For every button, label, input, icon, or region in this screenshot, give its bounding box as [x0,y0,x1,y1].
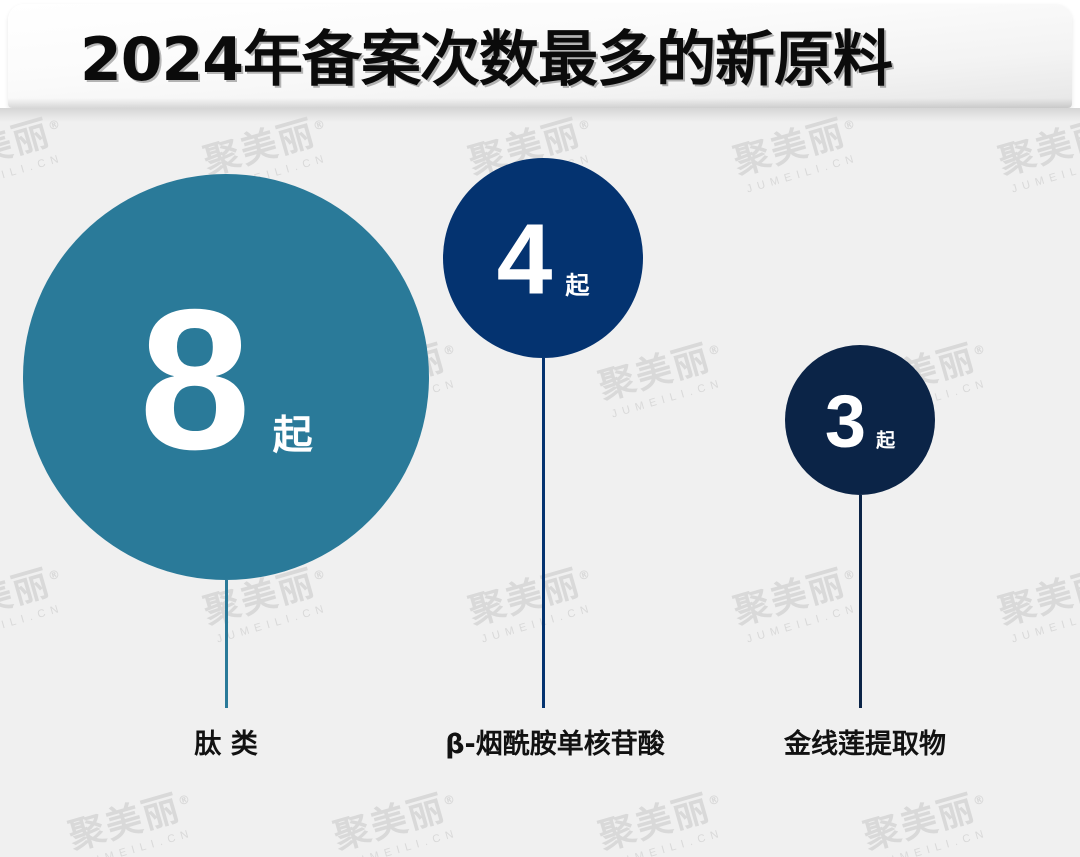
bubble-unit: 起 [273,415,313,455]
bubble-chart: 8起肽 类4起β-烟酰胺单核苷酸3起金线莲提取物 [0,108,1080,857]
bubble-unit: 起 [876,431,895,450]
bubble-2: 4起 [443,158,643,358]
bubble-unit: 起 [565,273,589,297]
title-banner: 2024年备案次数最多的新原料 [8,4,1072,108]
category-label-3: 金线莲提取物 [784,722,946,761]
page-title: 2024年备案次数最多的新原料 [80,11,892,98]
bubble-connector-line [225,580,228,708]
infographic-root: 2024年备案次数最多的新原料 聚美丽®JUMEILI.CN聚美丽®JUMEIL… [0,0,1080,857]
bubble-connector-line [542,358,545,708]
category-label-1: 肽 类 [194,722,257,761]
category-label-2: β-烟酰胺单核苷酸 [445,722,665,761]
chart-panel: 聚美丽®JUMEILI.CN聚美丽®JUMEILI.CN聚美丽®JUMEILI.… [0,108,1080,857]
bubble-content: 4起 [497,217,590,302]
bubble-content: 3起 [825,390,895,453]
bubble-content: 8起 [139,295,312,465]
bubble-value: 4 [497,217,553,302]
bubble-value: 3 [825,390,866,453]
bubble-value: 8 [139,295,250,465]
bubble-connector-line [859,495,862,708]
bubble-1: 8起 [23,174,429,580]
bubble-3: 3起 [785,345,935,495]
